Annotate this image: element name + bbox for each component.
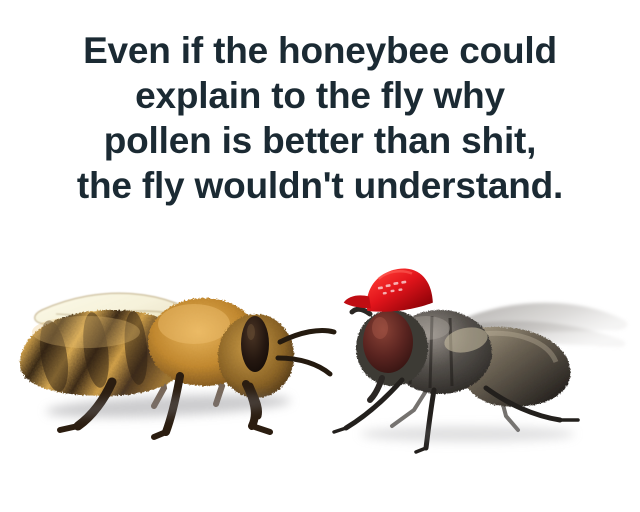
caption-line-1: Even if the honeybee could [0, 28, 640, 73]
fly-compound-eye [363, 311, 413, 373]
caption-line-3: pollen is better than shit, [0, 118, 640, 163]
bee-illustration [8, 236, 338, 446]
honeybee-photo [8, 236, 338, 446]
meme-caption: Even if the honeybee could explain to th… [0, 28, 640, 208]
fly-photo [330, 268, 635, 464]
caption-line-4: the fly wouldn't understand. [0, 163, 640, 208]
fly-illustration [330, 268, 635, 464]
bee-eye [241, 316, 269, 372]
meme-image: Even if the honeybee could explain to th… [0, 0, 640, 512]
caption-line-2: explain to the fly why [0, 73, 640, 118]
